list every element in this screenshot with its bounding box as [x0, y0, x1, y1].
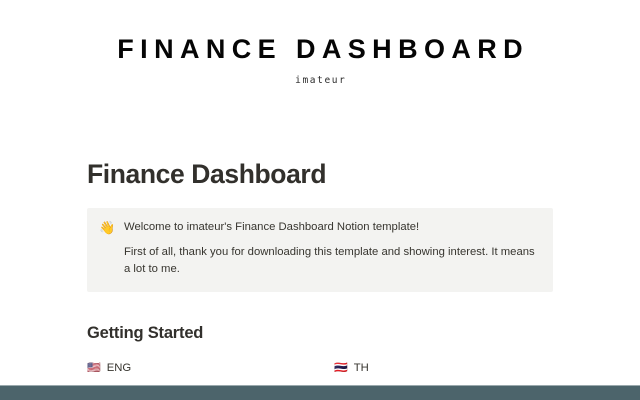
- language-label-th: 🇹🇭 TH: [334, 360, 577, 376]
- callout-line-thanks: First of all, thank you for downloading …: [124, 244, 539, 279]
- cover-banner-title: FINANCE DASHBOARD: [111, 34, 529, 64]
- thailand-flag-emoji: 🇹🇭: [334, 360, 348, 376]
- language-label-eng-text: ENG: [107, 360, 131, 376]
- language-label-th-text: TH: [354, 360, 369, 376]
- page-title: Finance Dashboard: [87, 158, 553, 190]
- page-content: Finance Dashboard 👋 Welcome to imateur's…: [0, 158, 640, 400]
- section-heading-getting-started: Getting Started: [87, 323, 553, 344]
- waving-hand-emoji: 👋: [99, 219, 115, 236]
- welcome-callout-block[interactable]: 👋 Welcome to imateur's Finance Dashboard…: [87, 208, 553, 292]
- cover-banner: FINANCE DASHBOARD imateur: [0, 0, 640, 118]
- cover-banner-subtitle: imateur: [294, 75, 347, 87]
- us-flag-emoji: 🇺🇸: [87, 360, 101, 376]
- callout-text: Welcome to imateur's Finance Dashboard N…: [124, 219, 539, 279]
- bottom-band: [0, 386, 640, 400]
- callout-line-welcome: Welcome to imateur's Finance Dashboard N…: [124, 219, 539, 237]
- language-label-eng: 🇺🇸 ENG: [87, 360, 330, 376]
